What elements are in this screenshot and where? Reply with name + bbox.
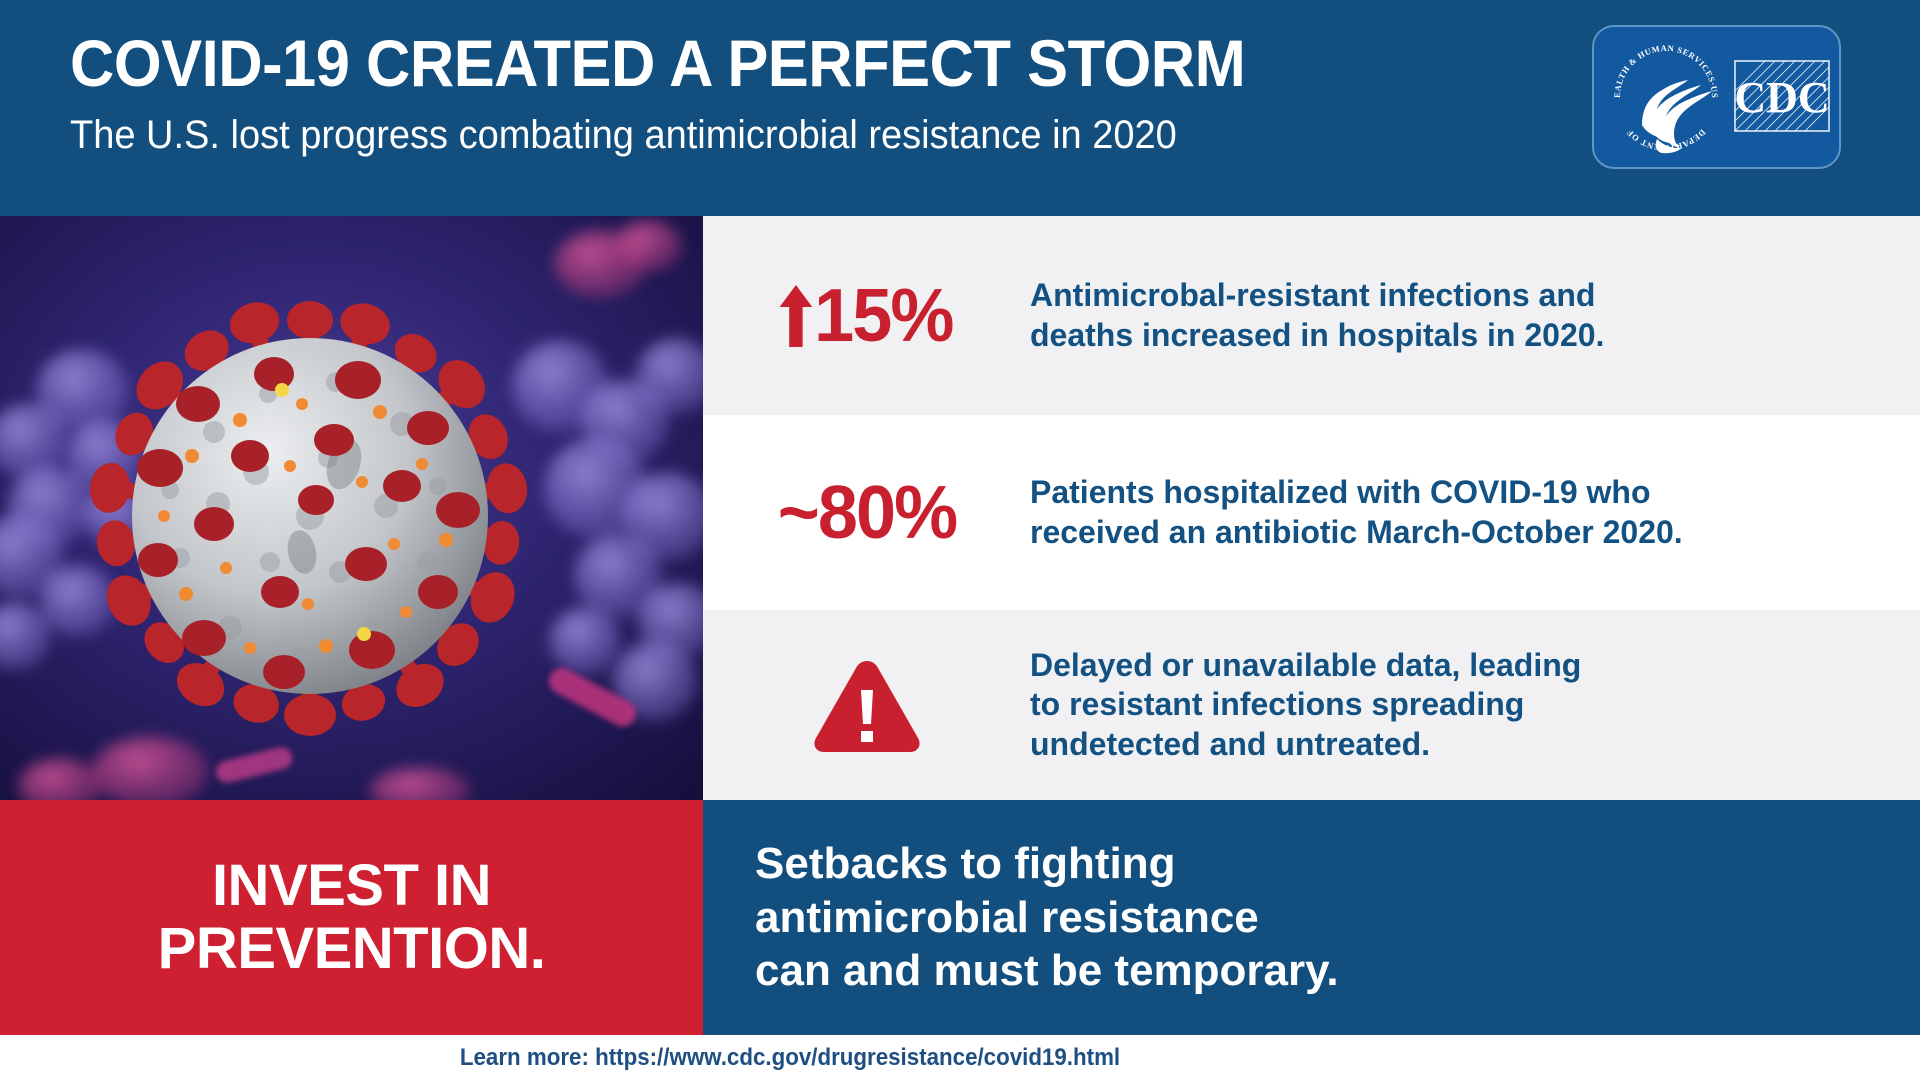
stat-description-line: received an antibiotic March-October 202…: [1030, 513, 1880, 552]
stat-figure-value-wrap: 15%: [780, 278, 953, 353]
call-to-action-line: PREVENTION.: [158, 918, 546, 981]
virus-image-panel: [0, 216, 703, 800]
page-subtitle: The U.S. lost progress combating antimic…: [70, 115, 1177, 155]
learn-more-link[interactable]: Learn more: https://www.cdc.gov/drugresi…: [55, 1044, 1524, 1072]
hhs-seal-icon: HEALTH & HUMAN SERVICES·USA DEPARTMENT O…: [1602, 33, 1730, 161]
stat-description-line: deaths increased in hospitals in 2020.: [1030, 316, 1880, 355]
stat-figure: ~80%: [703, 475, 1030, 550]
arrow-up-icon: [780, 285, 813, 347]
cdc-wordmark-text: CDC: [1734, 73, 1829, 122]
stat-row: ~80% Patients hospitalized with COVID-19…: [703, 415, 1920, 610]
cdc-logo[interactable]: HEALTH & HUMAN SERVICES·USA DEPARTMENT O…: [1592, 25, 1841, 169]
header-banner: COVID-19 CREATED A PERFECT STORM The U.S…: [0, 0, 1920, 216]
svg-text:HEALTH & HUMAN SERVICES·USA: HEALTH & HUMAN SERVICES·USA: [1602, 33, 1720, 98]
stat-description-line: Patients hospitalized with COVID-19 who: [1030, 473, 1880, 512]
stat-description-line: to resistant infections spreading: [1030, 685, 1880, 724]
stat-figure: [703, 656, 1030, 754]
stat-figure-value: ~80%: [777, 475, 955, 550]
stat-description-line: Delayed or unavailable data, leading: [1030, 646, 1880, 685]
message-block: Setbacks to fighting antimicrobial resis…: [703, 800, 1920, 1035]
stat-figure: 15%: [703, 278, 1030, 353]
page-title: COVID-19 CREATED A PERFECT STORM: [70, 30, 1245, 96]
stat-description: Patients hospitalized with COVID-19 who …: [1030, 473, 1920, 551]
stat-description: Delayed or unavailable data, leading to …: [1030, 646, 1920, 763]
stat-row: 15% Antimicrobal-resistant infections an…: [703, 216, 1920, 415]
stat-description: Antimicrobal-resistant infections and de…: [1030, 276, 1920, 354]
infographic-page: COVID-19 CREATED A PERFECT STORM The U.S…: [0, 0, 1920, 1080]
message-line: antimicrobial resistance: [755, 891, 1920, 945]
footer-bar: Learn more: https://www.cdc.gov/drugresi…: [0, 1035, 1920, 1080]
message-line: Setbacks to fighting: [755, 837, 1920, 891]
warning-triangle-icon: [811, 656, 923, 754]
call-to-action-block: INVEST IN PREVENTION.: [0, 800, 703, 1035]
stat-description-line: Antimicrobal-resistant infections and: [1030, 276, 1880, 315]
stat-row: Delayed or unavailable data, leading to …: [703, 610, 1920, 800]
stat-figure-value: 15%: [815, 273, 953, 357]
cdc-wordmark-icon: CDC: [1734, 60, 1830, 132]
stat-description-line: undetected and untreated.: [1030, 725, 1880, 764]
sars-cov-2-illustration-icon: [0, 216, 703, 800]
message-line: can and must be temporary.: [755, 944, 1920, 998]
call-to-action-line: INVEST IN: [212, 855, 491, 918]
